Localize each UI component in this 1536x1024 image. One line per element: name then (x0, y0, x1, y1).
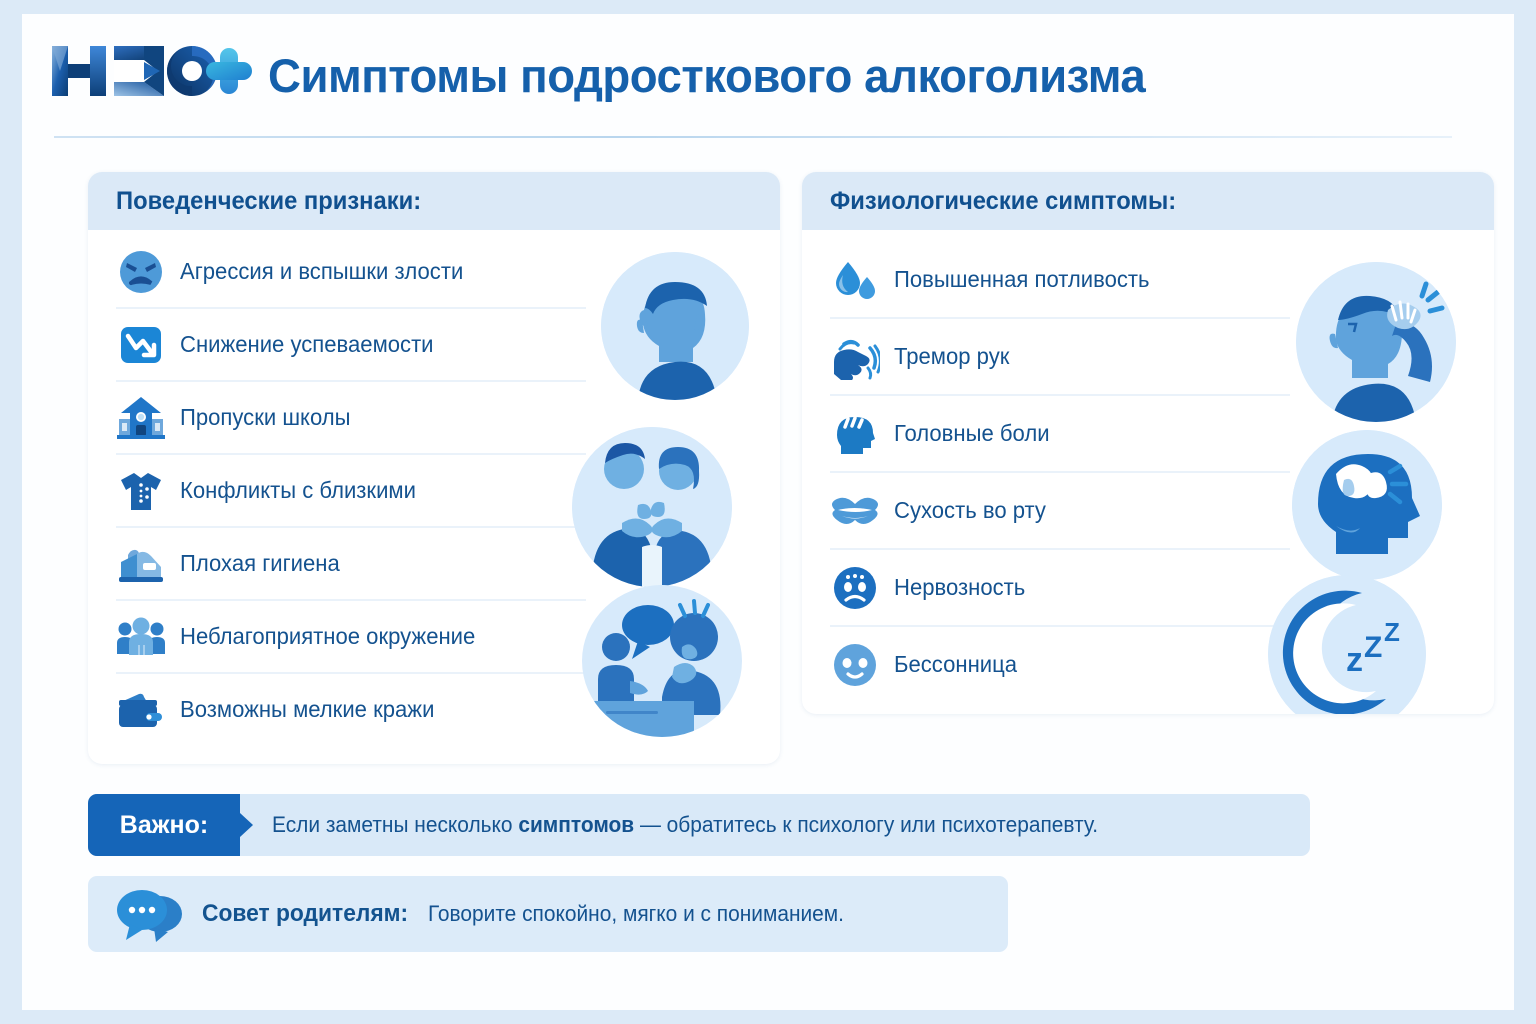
list-item[interactable]: Неблагоприятное окружение (116, 601, 586, 674)
list-item[interactable]: Конфликты с близкими (116, 455, 586, 528)
list-item[interactable]: Головные боли (830, 396, 1290, 473)
parent-tip-texts: Совет родителям: Говорите спокойно, мягк… (202, 900, 866, 928)
svg-text:z: z (1346, 641, 1363, 679)
group-people-icon (116, 612, 166, 662)
list-item-label: Повышенная потливость (894, 266, 1150, 293)
list-item[interactable]: Плохая гигиена (116, 528, 586, 601)
headache-person-illustration (1296, 262, 1456, 422)
list-item[interactable]: Пропуски школы (116, 382, 586, 455)
list-item-label: Конфликты с близкими (180, 477, 416, 504)
list-item[interactable]: Тремор рук (830, 319, 1290, 396)
list-item-label: Пропуски школы (180, 404, 351, 431)
list-item[interactable]: Повышенная потливость (830, 242, 1290, 319)
list-item[interactable]: Возможны мелкие кражи (116, 674, 586, 745)
important-text-before: Если заметны несколько (272, 812, 518, 837)
important-text-after: — обратитесь к психологу или психотерапе… (634, 812, 1098, 837)
behavioral-items-list: Агрессия и вспышки злости Снижение успев… (116, 236, 586, 745)
list-item[interactable]: Бессонница (830, 627, 1290, 702)
important-text: Если заметны несколько симптомов — обрат… (272, 812, 1098, 838)
important-tag: Важно: (88, 794, 240, 856)
behavioral-card-header: Поведенческие признаки: (88, 172, 780, 230)
head-pain-icon (830, 409, 880, 459)
infographic-canvas: Симптомы подросткового алкоголизма Повед… (22, 14, 1514, 1010)
parent-tip-title: Совет родителям: (202, 900, 408, 928)
angry-face-icon (116, 247, 166, 297)
list-item[interactable]: Нервозность (830, 550, 1290, 627)
list-item-label: Тремор рук (894, 343, 1009, 370)
school-building-icon (116, 393, 166, 443)
counseling-talk-illustration (582, 585, 742, 737)
important-text-bold: симптомов (518, 812, 634, 837)
lips-icon (830, 486, 880, 536)
tshirt-icon (116, 466, 166, 516)
sleepy-face-icon (830, 640, 880, 690)
list-item[interactable]: Агрессия и вспышки злости (116, 236, 586, 309)
brain-head-illustration (1292, 430, 1442, 580)
header-divider (54, 136, 1452, 138)
water-drops-icon (830, 255, 880, 305)
list-item-label: Плохая гигиена (180, 550, 340, 577)
list-item[interactable]: Сухость во рту (830, 473, 1290, 550)
list-item-label: Головные боли (894, 420, 1050, 447)
speech-bubbles-icon (114, 884, 202, 944)
list-item-label: Сухость во рту (894, 497, 1046, 524)
neo-plus-logo (52, 38, 260, 104)
header: Симптомы подросткового алкоголизма (22, 14, 1514, 142)
conflict-argument-illustration (572, 427, 732, 587)
behavioral-card-heading: Поведенческие признаки: (116, 187, 421, 216)
parent-tip-text: Говорите спокойно, мягко и с пониманием. (428, 901, 844, 927)
list-item-label: Бессонница (894, 651, 1017, 678)
list-item-label: Неблагоприятное окружение (180, 623, 475, 650)
teen-boy-portrait-illustration (601, 252, 749, 400)
physiological-items-list: Повышенная потливость Тремор рук (830, 242, 1290, 702)
behavioral-signs-card: Поведенческие признаки: Агрессия и вспы (88, 172, 780, 764)
list-item[interactable]: Снижение успеваемости (116, 309, 586, 382)
physiological-card-header: Физиологические симптомы: (802, 172, 1494, 230)
wallet-icon (116, 685, 166, 735)
shaking-hand-icon (830, 332, 880, 382)
soap-hygiene-icon (116, 539, 166, 589)
list-item-label: Агрессия и вспышки злости (180, 258, 463, 285)
parent-tip-banner: Совет родителям: Говорите спокойно, мягк… (88, 876, 1008, 952)
svg-text:Z: Z (1364, 631, 1382, 664)
worried-face-icon (830, 563, 880, 613)
list-item-label: Нервозность (894, 574, 1025, 601)
svg-text:Z: Z (1384, 617, 1400, 647)
grade-drop-chart-icon (116, 320, 166, 370)
important-banner: Важно: Если заметны несколько симптомов … (88, 794, 1310, 856)
physiological-card-body: Повышенная потливость Тремор рук (802, 230, 1494, 714)
page-title: Симптомы подросткового алкоголизма (268, 48, 1145, 103)
physiological-card-heading: Физиологические симптомы: (830, 187, 1176, 216)
behavioral-card-body: Агрессия и вспышки злости Снижение успев… (88, 230, 780, 764)
list-item-label: Снижение успеваемости (180, 331, 434, 358)
moon-sleep-illustration: z Z Z (1268, 575, 1426, 714)
list-item-label: Возможны мелкие кражи (180, 696, 434, 723)
physiological-symptoms-card: Физиологические симптомы: Повышенная пот… (802, 172, 1494, 714)
